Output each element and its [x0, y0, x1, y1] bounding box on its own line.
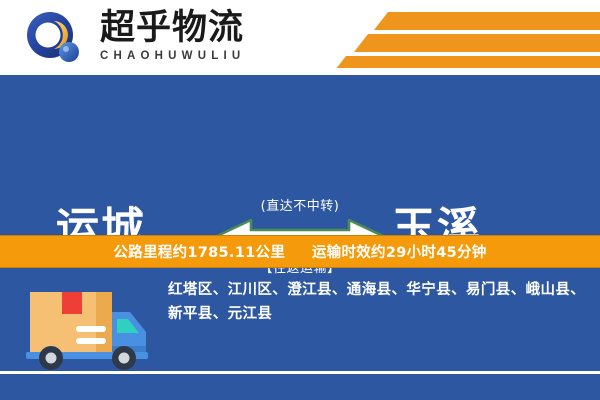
- brand-lockup: 超乎物流 CHAOHUWULIU: [100, 8, 245, 63]
- logistics-route-banner: 超乎物流 CHAOHUWULIU 运城 (直达不中转) 【往返运输】 玉溪: [0, 0, 600, 400]
- route-panel: 运城 (直达不中转) 【往返运输】 玉溪: [0, 75, 600, 235]
- orange-stripes-decoration-icon: [280, 8, 600, 68]
- coverage-districts-text: 红塔区、江川区、澄江县、通海县、华宁县、易门县、峨山县、新平县、元江县: [168, 278, 586, 326]
- circular-q-logo-icon: [24, 11, 86, 65]
- direct-route-label: (直达不中转): [225, 195, 375, 214]
- brand-name-en: CHAOHUWULIU: [100, 49, 245, 63]
- brand-name-cn: 超乎物流: [100, 8, 245, 48]
- footer-bar: [0, 374, 600, 400]
- info-bar-content: 公路里程约1785.11公里 运输时效约29小时45分钟: [113, 241, 486, 262]
- duration-text: 运输时效约29小时45分钟: [312, 245, 487, 261]
- route-info-bar: 公路里程约1785.11公里 运输时效约29小时45分钟: [0, 235, 600, 268]
- header: 超乎物流 CHAOHUWULIU: [0, 0, 600, 75]
- distance-text: 公路里程约1785.11公里: [113, 245, 285, 261]
- delivery-truck-icon: [18, 276, 158, 371]
